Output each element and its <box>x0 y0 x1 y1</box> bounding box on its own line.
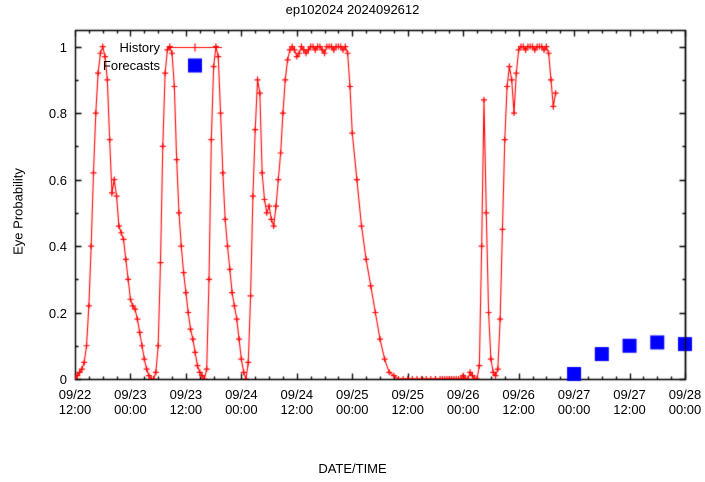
x-tick-date: 09/28 <box>645 388 705 401</box>
x-axis-title: DATE/TIME <box>0 462 705 475</box>
y-axis-title: Eye Probability <box>12 147 25 277</box>
y-axis-tick-label: 0.4 <box>7 240 67 253</box>
x-tick-time: 00:00 <box>645 403 705 416</box>
chart-plot-area: ep102024 2024092612 Eye Probability DATE… <box>0 0 705 482</box>
chart-title: ep102024 2024092612 <box>0 3 705 16</box>
legend-entry-forecasts-label: Forecasts <box>60 59 160 72</box>
y-axis-tick-label: 0.8 <box>7 107 67 120</box>
y-axis-tick-label: 0.6 <box>7 174 67 187</box>
y-axis-tick-label: 0 <box>7 373 67 386</box>
y-axis-tick-label: 1 <box>7 41 67 54</box>
legend-entry-history-label: History <box>60 41 160 54</box>
y-axis-tick-label: 0.2 <box>7 307 67 320</box>
x-axis-tick-label: 09/2800:00 <box>645 388 705 416</box>
